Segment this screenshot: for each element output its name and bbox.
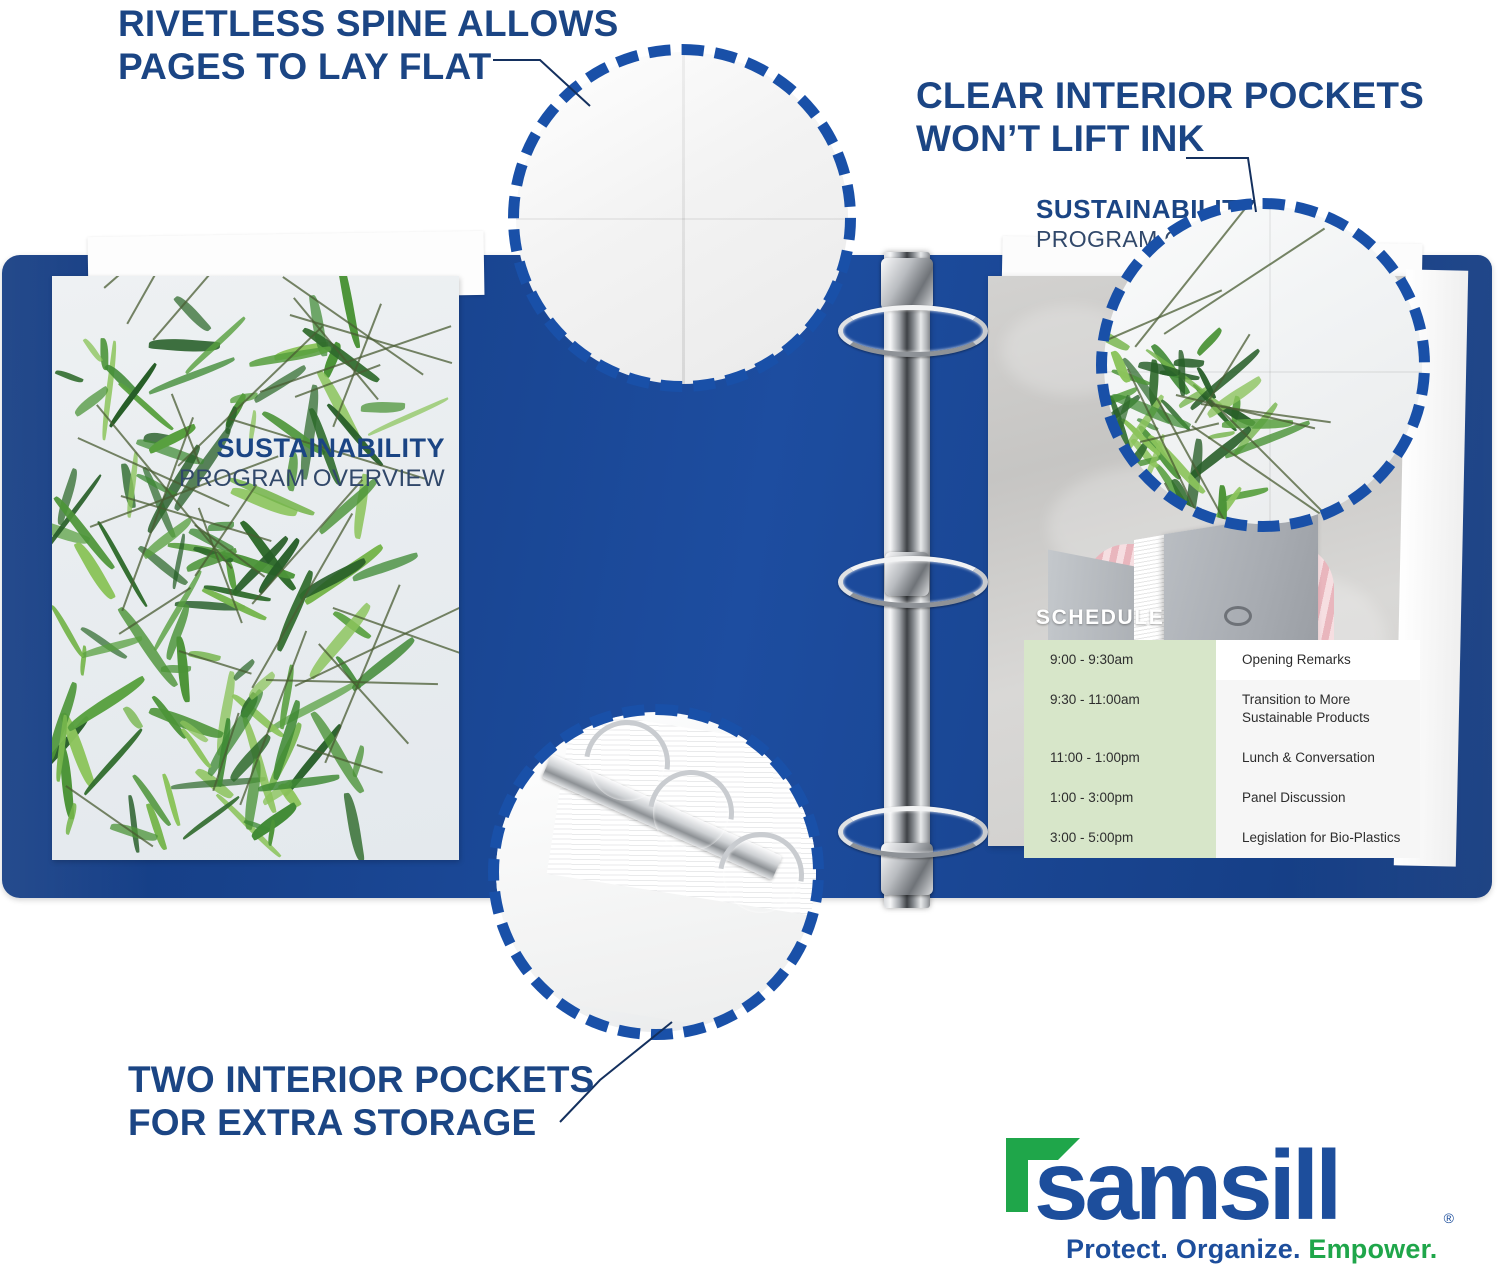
schedule-time: 11:00 - 1:00pm	[1024, 738, 1216, 778]
bamboo-leaf	[203, 582, 271, 604]
bamboo-leaf	[181, 796, 241, 840]
bamboo-leaf	[63, 803, 79, 835]
schedule-row: 3:00 - 5:00pmLegislation for Bio-Plastic…	[1024, 818, 1420, 858]
bamboo-leaf	[297, 558, 369, 601]
bamboo-stem	[259, 325, 451, 392]
bamboo-leaf	[226, 560, 237, 591]
bamboo-leaf	[73, 539, 115, 602]
bamboo-leaf	[208, 521, 234, 530]
bamboo-leaf	[1188, 348, 1263, 411]
bamboo-leaf	[267, 820, 278, 847]
bamboo-leaf	[162, 773, 180, 827]
bamboo-leaf	[167, 540, 225, 557]
callout-clear-pockets: CLEAR INTERIOR POCKETS WON’T LIFT INK	[916, 74, 1424, 161]
bamboo-leaf	[242, 759, 265, 831]
bamboo-leaf	[232, 659, 257, 681]
bamboo-leaf	[78, 645, 88, 676]
bamboo-stem	[152, 276, 281, 340]
bamboo-leaf	[149, 337, 221, 354]
bamboo-leaf	[1204, 376, 1264, 418]
ring-clamp	[881, 258, 933, 310]
bamboo-stem	[293, 297, 378, 399]
bamboo-leaf	[280, 724, 345, 798]
bamboo-leaf	[117, 603, 178, 690]
bamboo-leaf	[145, 803, 167, 852]
bamboo-leaf	[151, 693, 187, 741]
bamboo-leaf	[316, 368, 360, 440]
schedule-time: 9:00 - 9:30am	[1024, 640, 1216, 680]
samsill-tagline: Protect. Organize. Empower.	[1066, 1234, 1438, 1265]
bamboo-stem	[318, 644, 409, 745]
bamboo-leaf	[221, 548, 295, 584]
bamboo-leaf	[83, 337, 103, 364]
schedule-event: Opening Remarks	[1216, 640, 1420, 680]
binder-ring	[838, 305, 988, 357]
schedule-row: 1:00 - 3:00pmPanel Discussion	[1024, 778, 1420, 818]
bamboo-leaf	[1177, 386, 1210, 409]
bamboo-stem	[252, 479, 363, 604]
bamboo-stem	[212, 712, 239, 791]
bamboo-leaf	[118, 380, 174, 432]
bamboo-leaf	[229, 393, 258, 404]
bamboo-leaf	[188, 648, 221, 663]
bamboo-leaf	[335, 276, 361, 349]
bamboo-leaf	[309, 293, 328, 356]
callout-two-pockets: TWO INTERIOR POCKETS FOR EXTRA STORAGE	[128, 1058, 595, 1145]
schedule-row: 11:00 - 1:00pmLunch & Conversation	[1024, 738, 1420, 778]
bamboo-leaf	[100, 340, 120, 440]
bamboo-leaf	[237, 691, 262, 719]
bamboo-leaf	[257, 775, 339, 793]
bamboo-leaf	[248, 346, 332, 367]
schedule-heading: SCHEDULE	[1024, 606, 1420, 640]
bamboo-stem	[66, 785, 154, 847]
bamboo-leaf	[1138, 358, 1181, 380]
bamboo-leaf	[65, 676, 149, 733]
bamboo-leaf	[1110, 389, 1191, 433]
bamboo-leaf	[97, 520, 148, 609]
bamboo-stem	[332, 304, 381, 427]
bamboo-stem	[1195, 333, 1251, 423]
magnifier-rivetless-spine	[516, 52, 848, 384]
magnifier-clear-pockets	[1104, 206, 1422, 524]
bamboo-leaf	[184, 548, 237, 573]
bamboo-leaf	[265, 679, 361, 733]
bamboo-leaf	[302, 323, 380, 386]
bamboo-leaf	[140, 517, 194, 559]
bamboo-stem	[195, 484, 258, 576]
bamboo-leaf	[201, 586, 266, 624]
bamboo-leaf	[125, 452, 140, 518]
bamboo-leaf	[348, 637, 417, 692]
bamboo-stem	[266, 679, 438, 685]
bamboo-leaf	[52, 604, 85, 660]
left-cover-document: SUSTAINABILITY PROGRAM OVERVIEW	[52, 276, 459, 860]
bamboo-stem	[127, 276, 211, 324]
bamboo-stem	[1140, 422, 1219, 442]
bamboo-stem	[1163, 228, 1324, 335]
bamboo-stem	[251, 513, 352, 688]
bamboo-leaf	[180, 727, 211, 770]
bamboo-leaf	[215, 792, 281, 860]
bamboo-stem	[194, 524, 265, 577]
cover-subtitle: PROGRAM OVERVIEW	[179, 465, 445, 494]
bamboo-leaf	[52, 515, 90, 549]
bamboo-leaf	[72, 386, 111, 417]
bamboo-leaf	[60, 711, 96, 790]
registered-trademark-icon: ®	[1444, 1210, 1454, 1226]
bamboo-leaf	[264, 722, 306, 791]
bamboo-leaf	[227, 734, 275, 783]
bamboo-stem	[324, 585, 400, 764]
schedule-row: 9:30 - 11:00amTransition to More Sustain…	[1024, 680, 1420, 738]
bamboo-leaf	[1145, 347, 1222, 408]
bamboo-leaf	[305, 602, 375, 679]
bamboo-leaf	[52, 474, 104, 559]
bamboo-stem	[119, 587, 191, 634]
bamboo-leaf	[1222, 418, 1293, 430]
bamboo-stem	[282, 276, 423, 375]
bamboo-stem	[295, 597, 459, 687]
bamboo-leaf	[161, 664, 192, 674]
bamboo-leaf	[332, 608, 371, 642]
bamboo-leaf	[80, 728, 144, 796]
bamboo-leaf	[273, 342, 329, 362]
bamboo-leaf	[1173, 357, 1204, 370]
pocket-crease-vertical	[1269, 206, 1271, 524]
schedule-table: 9:00 - 9:30amOpening Remarks9:30 - 11:00…	[1024, 640, 1420, 858]
schedule-row: 9:00 - 9:30amOpening Remarks	[1024, 640, 1420, 680]
bamboo-leaf	[173, 293, 212, 335]
binder-ring	[838, 806, 988, 858]
bamboo-leaf	[272, 570, 318, 652]
bamboo-stem	[179, 650, 252, 674]
bamboo-leaf	[123, 704, 144, 731]
bamboo-leaf	[1229, 395, 1244, 422]
bamboo-leaf	[222, 392, 249, 428]
schedule-time: 9:30 - 11:00am	[1024, 680, 1216, 738]
bamboo-leaf	[104, 361, 140, 398]
bamboo-stem	[1107, 289, 1222, 340]
bamboo-stem	[294, 364, 380, 397]
bamboo-leaf	[1160, 368, 1200, 382]
bamboo-leaf	[1136, 416, 1158, 432]
bamboo-leaf	[52, 681, 82, 759]
bamboo-stem	[1201, 403, 1331, 423]
spine-crease-horizontal	[516, 218, 848, 220]
bamboo-leaf	[188, 524, 234, 555]
bamboo-leaf	[179, 717, 208, 744]
bamboo-leaf	[1151, 341, 1191, 397]
bamboo-leaf	[1160, 398, 1190, 433]
bamboo-leaf	[121, 462, 136, 508]
bamboo-leaf	[255, 537, 304, 594]
bamboo-leaf	[367, 397, 450, 436]
bamboo-stem	[199, 508, 243, 623]
bamboo-leaf	[151, 570, 204, 651]
bamboo-leaf	[143, 431, 171, 447]
bamboo-leaf	[242, 716, 277, 815]
bamboo-leaf	[1231, 402, 1280, 457]
tagline-empower: Empower.	[1308, 1234, 1437, 1264]
bamboo-leaf	[1221, 488, 1269, 503]
bamboo-leaf	[1224, 420, 1312, 459]
samsill-wordmark: samsill	[1034, 1136, 1338, 1234]
bamboo-leaf	[1111, 349, 1131, 385]
bamboo-leaf	[361, 401, 405, 414]
bamboo-leaf	[53, 468, 81, 525]
bamboo-leaf	[1192, 382, 1237, 433]
bamboo-leaf	[142, 466, 176, 540]
bamboo-stem	[289, 314, 451, 363]
bamboo-leaf	[107, 363, 159, 428]
bamboo-leaf	[248, 802, 300, 841]
bamboo-leaf	[350, 745, 367, 778]
callout-rivetless-spine: RIVETLESS SPINE ALLOWS PAGES TO LAY FLAT	[118, 2, 619, 89]
schedule-event: Lunch & Conversation	[1216, 738, 1420, 778]
samsill-logo: samsill ® Protect. Organize. Empower.	[1004, 1136, 1456, 1264]
schedule-event: Transition to More Sustainable Products	[1216, 680, 1420, 738]
bamboo-leaf	[176, 636, 190, 702]
schedule-time: 1:00 - 3:00pm	[1024, 778, 1216, 818]
bamboo-leaf	[222, 406, 239, 435]
bamboo-leaf	[174, 599, 244, 614]
bamboo-leaf	[239, 517, 296, 593]
bamboo-leaf	[195, 765, 235, 803]
bamboo-stem	[1191, 425, 1335, 524]
bamboo-leaf	[58, 744, 74, 819]
bamboo-stem	[1176, 394, 1316, 429]
magnifier-ring-mechanism	[496, 712, 816, 1032]
bamboo-leaf	[1194, 327, 1224, 356]
bamboo-foliage	[52, 276, 459, 860]
bamboo-leaf	[335, 654, 362, 691]
bamboo-leaf	[80, 623, 127, 661]
cover-title-block: SUSTAINABILITY PROGRAM OVERVIEW	[179, 434, 445, 494]
bamboo-leaf	[183, 316, 247, 374]
bamboo-leaf	[245, 671, 278, 701]
bamboo-leaf	[136, 471, 178, 499]
pocket-crease-horizontal	[1104, 371, 1422, 373]
schedule-block: SCHEDULE 9:00 - 9:30amOpening Remarks9:3…	[1024, 606, 1420, 858]
bamboo-leaf	[1121, 356, 1171, 427]
bamboo-leaf	[55, 714, 70, 781]
schedule-event: Panel Discussion	[1216, 778, 1420, 818]
cover-title: SUSTAINABILITY	[179, 434, 445, 462]
product-feature-graphic: SUSTAINABILITY PROGRAM OVERVIEW SUSTAINA…	[0, 0, 1500, 1273]
bamboo-leaf	[100, 338, 108, 370]
bamboo-leaf	[193, 544, 234, 565]
tagline-protect-organize: Protect. Organize.	[1066, 1234, 1301, 1264]
bamboo-leaf	[1220, 401, 1255, 428]
bamboo-leaf	[1208, 431, 1235, 439]
bamboo-leaf	[215, 718, 233, 787]
bamboo-leaf	[310, 708, 364, 795]
bamboo-leaf	[1111, 367, 1150, 389]
bamboo-leaf	[55, 368, 84, 385]
bamboo-stem	[240, 630, 307, 805]
bamboo-stem	[103, 276, 202, 289]
schedule-time: 3:00 - 5:00pm	[1024, 818, 1216, 858]
binder-ring	[838, 556, 988, 608]
bamboo-leaf	[277, 665, 296, 730]
bamboo-leaf	[132, 772, 172, 828]
bamboo-leaf	[252, 365, 309, 404]
bamboo-leaf	[170, 534, 187, 590]
bamboo-leaf	[148, 357, 236, 395]
bamboo-leaf	[1185, 426, 1254, 482]
bamboo-leaf	[321, 341, 346, 378]
bamboo-leaf	[52, 716, 92, 778]
bamboo-leaf	[203, 688, 269, 776]
bamboo-leaf	[301, 543, 386, 605]
bamboo-leaf	[343, 792, 364, 860]
bamboo-leaf	[1147, 359, 1160, 407]
bamboo-leaf	[231, 690, 284, 740]
bamboo-leaf	[110, 819, 158, 844]
bamboo-leaf	[243, 817, 270, 832]
bamboo-leaf	[269, 700, 305, 781]
bamboo-stem	[333, 607, 459, 655]
bamboo-stem	[121, 495, 272, 542]
bamboo-leaf	[171, 777, 266, 789]
bamboo-leaf	[259, 779, 294, 805]
bamboo-leaf	[129, 794, 140, 853]
bamboo-stem	[297, 744, 383, 773]
schedule-event: Legislation for Bio-Plastics	[1216, 818, 1420, 858]
bamboo-leaf	[229, 536, 291, 596]
bamboo-leaf	[213, 670, 240, 755]
bamboo-leaf	[351, 552, 420, 582]
bamboo-leaf	[53, 494, 115, 573]
bamboo-leaf	[138, 543, 189, 589]
bamboo-leaf	[80, 635, 143, 657]
bamboo-leaf	[148, 703, 224, 744]
bamboo-leaf	[277, 780, 301, 809]
bamboo-leaf	[163, 603, 194, 660]
bamboo-stem	[1210, 399, 1346, 524]
